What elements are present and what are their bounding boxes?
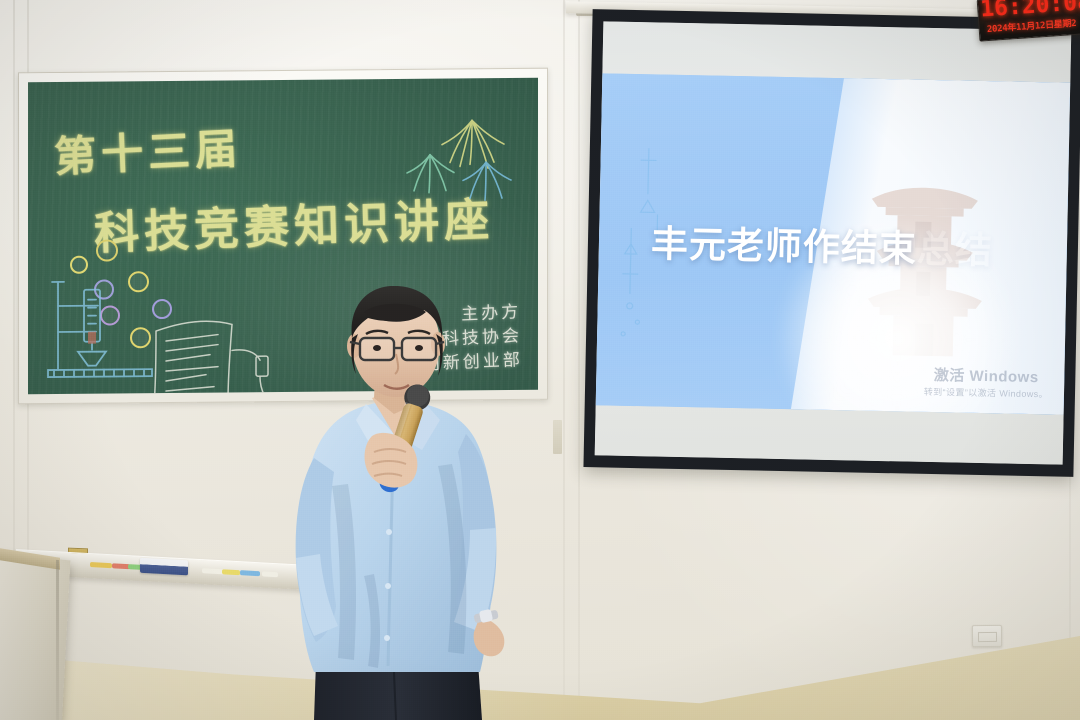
projection-screen-surface: 丰元老师作结束总结 激活 Windows 转到“设置”以激活 Windows。 <box>595 21 1072 464</box>
wall-power-socket <box>972 625 1002 647</box>
lectern <box>0 552 70 720</box>
lab-stand-doodle <box>44 271 164 384</box>
blackboard-title-line-1: 第十三届 <box>53 115 243 185</box>
wall-seam <box>578 0 580 720</box>
slide-title-visible: 丰元老师作结束 <box>651 222 918 270</box>
slide-title: 丰元老师作结束总结 <box>650 213 993 274</box>
projected-slide: 丰元老师作结束总结 激活 Windows 转到“设置”以激活 Windows。 <box>596 73 1071 414</box>
watermark-line-1: 激活 Windows <box>924 365 1049 388</box>
board-eraser <box>140 558 188 576</box>
classroom-photo: 第十三届 科技竞赛知识讲座 主办方 科技协会 创新创业部 <box>0 0 1080 720</box>
watermark-line-2: 转到“设置”以激活 Windows。 <box>924 386 1048 401</box>
lecturer <box>268 286 568 720</box>
lectern-edge <box>56 560 59 720</box>
slide-title-obscured: 总结 <box>916 228 993 273</box>
led-wall-clock: 16:20:08 2024年11月12日星期2 <box>977 0 1080 42</box>
projection-screen: 丰元老师作结束总结 激活 Windows 转到“设置”以激活 Windows。 <box>583 9 1080 477</box>
windows-activation-watermark: 激活 Windows 转到“设置”以激活 Windows。 <box>924 365 1049 400</box>
fireworks-doodle <box>394 104 524 220</box>
